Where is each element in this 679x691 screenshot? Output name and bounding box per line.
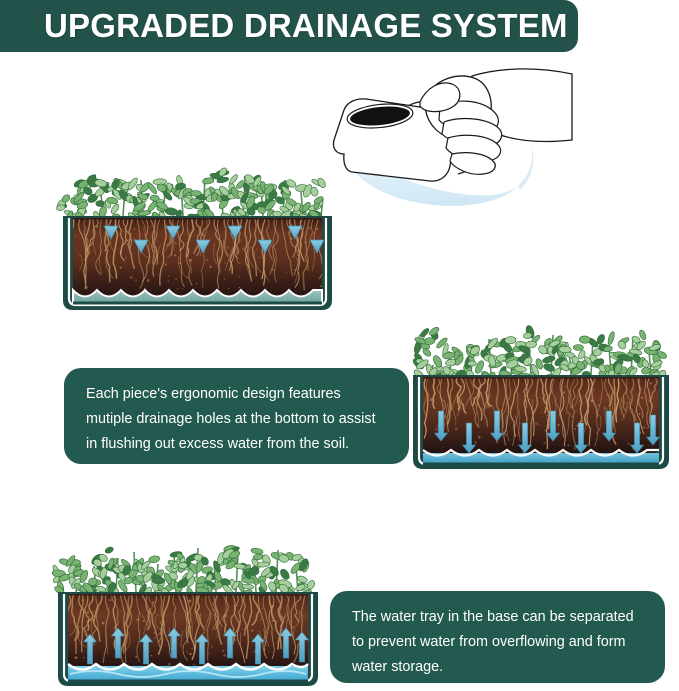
page-title: UPGRADED DRAINAGE SYSTEM: [0, 7, 568, 45]
infographic-page: UPGRADED DRAINAGE SYSTEM Each piece's er…: [0, 0, 679, 691]
foliage-group-bottom: [51, 545, 316, 601]
callout-1-text: Each piece's ergonomic design features m…: [86, 382, 387, 456]
soil-group-middle: [421, 375, 661, 455]
hand-holding-watering-can: [322, 58, 572, 228]
soil-group-top: [66, 216, 324, 298]
foliage-group-top: [55, 166, 327, 224]
planter-middle-svg: [405, 303, 677, 473]
planter-bottom-svg: [50, 518, 326, 691]
planter-cross-section-watering: [55, 140, 340, 315]
header-banner: UPGRADED DRAINAGE SYSTEM: [0, 0, 578, 52]
soil-group-bottom: [64, 592, 310, 672]
planter-cross-section-reservoir: [50, 518, 326, 691]
water-stream-tail: [518, 140, 533, 190]
planter-top-svg: [55, 140, 340, 315]
callout-water-tray: The water tray in the base can be separa…: [330, 591, 665, 683]
callout-drainage-holes: Each piece's ergonomic design features m…: [64, 368, 409, 464]
callout-2-text: The water tray in the base can be separa…: [352, 605, 643, 679]
planter-cross-section-draining: [405, 303, 677, 473]
water-reservoir-bottom: [68, 664, 308, 681]
